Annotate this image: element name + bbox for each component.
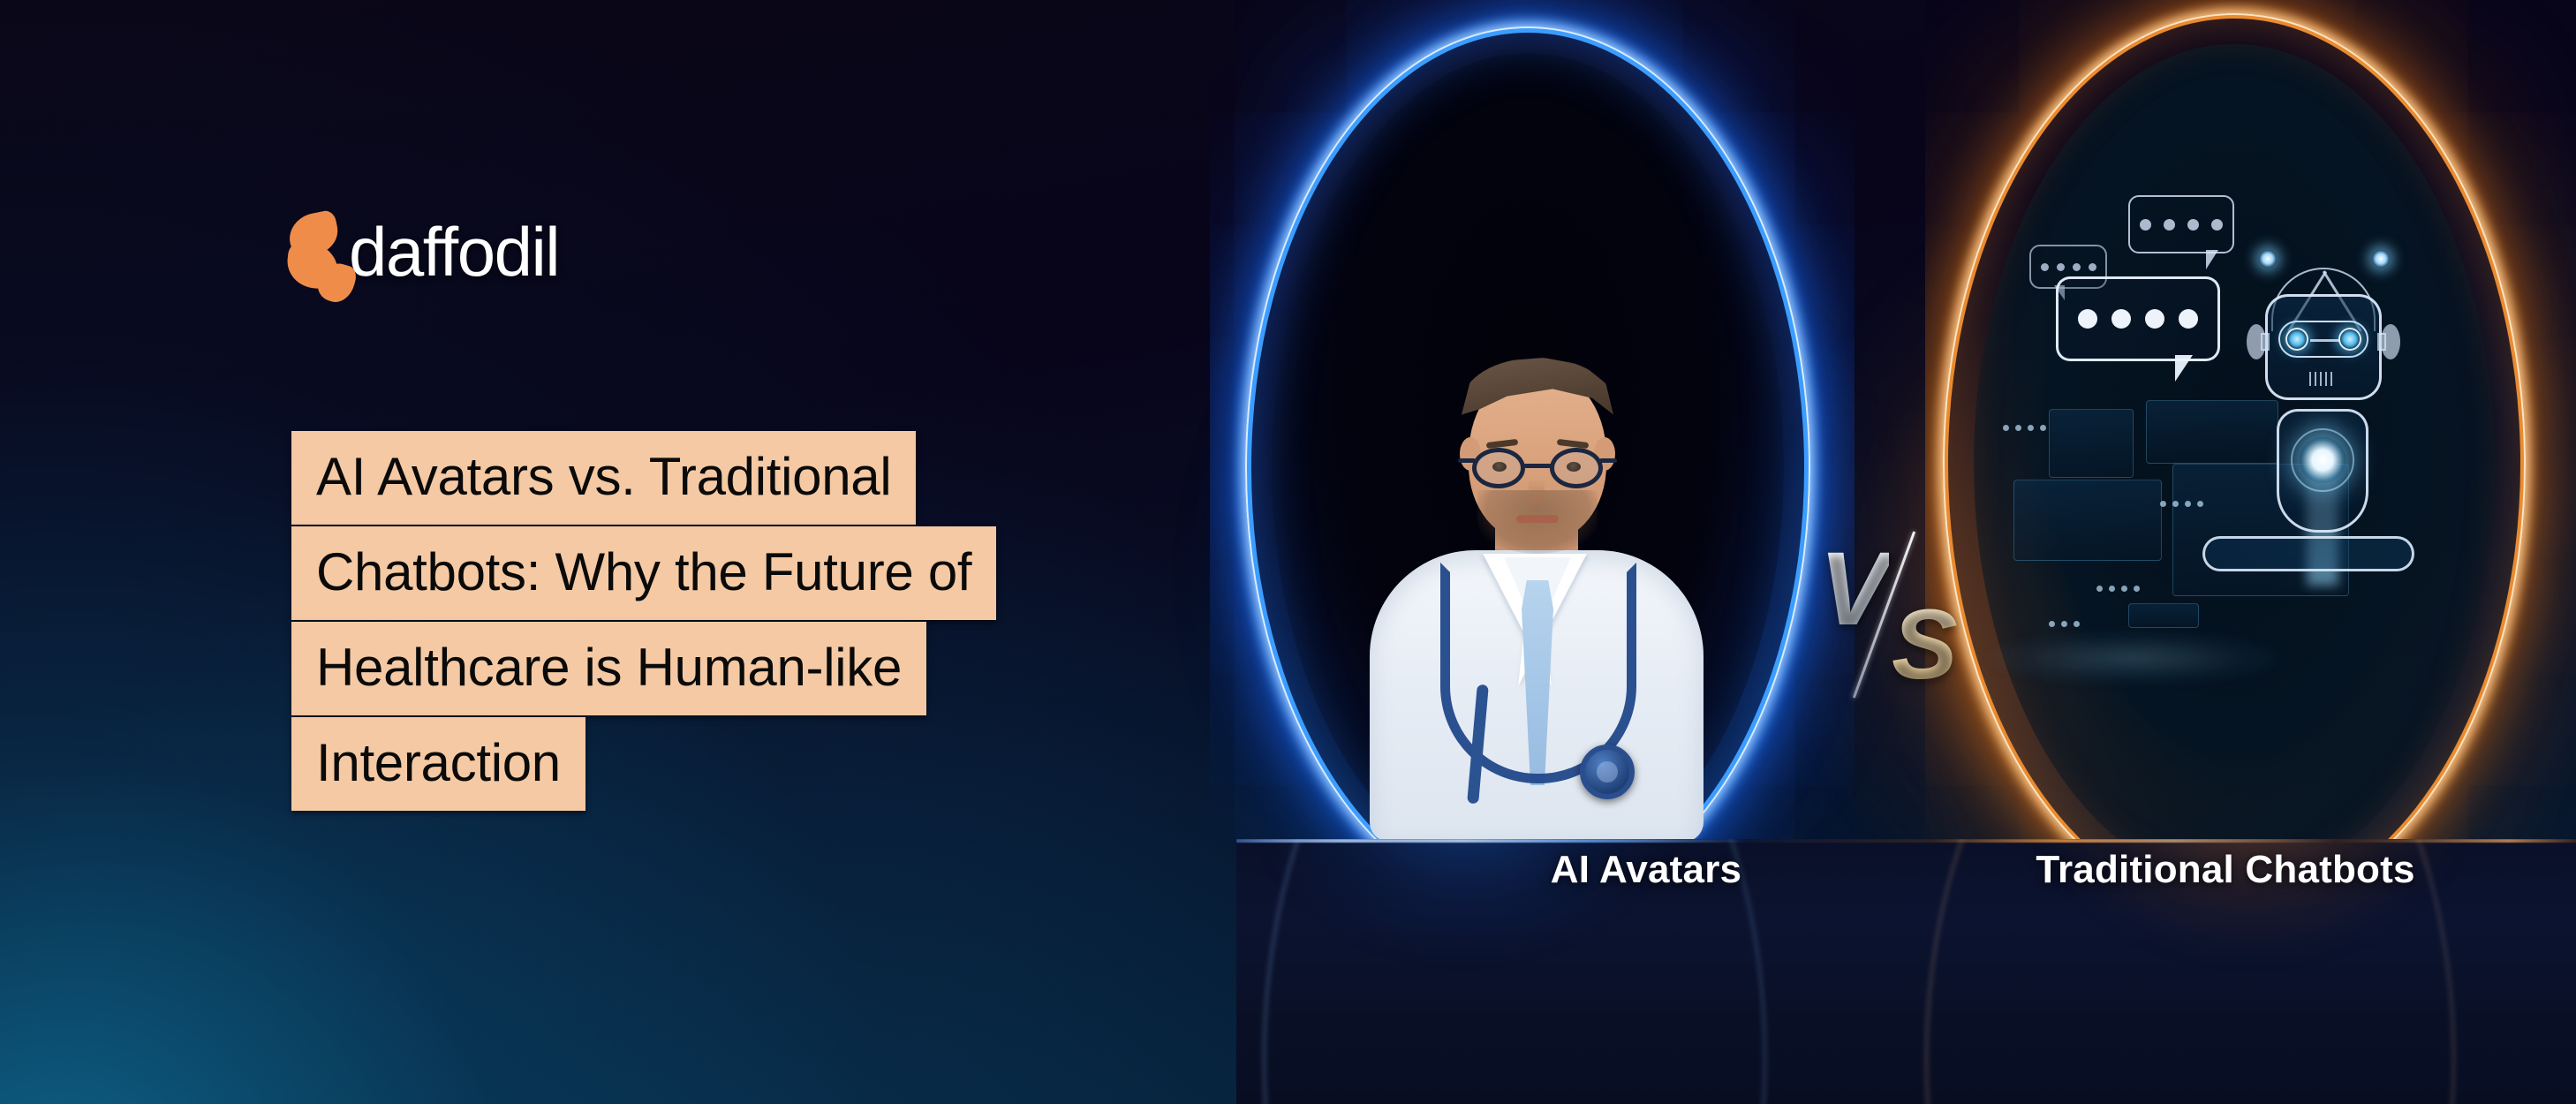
chat-bubble-icon — [2056, 276, 2220, 361]
doctor-mouth — [1516, 515, 1559, 523]
page-title: AI Avatars vs. Traditional Chatbots: Why… — [291, 431, 996, 811]
stethoscope-bell — [1580, 745, 1635, 799]
versus-separator: V S — [1819, 537, 1978, 705]
hud-dots — [2049, 621, 2080, 627]
chatbot-panel — [1925, 0, 2576, 839]
hud-panel — [2146, 400, 2278, 464]
headline-line: Healthcare is Human-like — [291, 622, 926, 715]
brand-logo[interactable]: daffodil — [287, 203, 559, 300]
eyeglass-arm-left — [1458, 458, 1476, 463]
ai-doctor-avatar — [1391, 305, 1682, 839]
chatbot-hud-scene — [1996, 172, 2473, 737]
robot-visor — [2278, 321, 2368, 358]
caption-ai-avatars: AI Avatars — [1425, 848, 1867, 892]
caption-traditional-chatbots: Traditional Chatbots — [1802, 848, 2576, 892]
robot-antenna-light-right — [2372, 250, 2390, 268]
headline-line: AI Avatars vs. Traditional — [291, 431, 916, 525]
robot-core-light — [2300, 437, 2346, 483]
eyeglass-bridge — [1523, 464, 1552, 468]
robot-antenna-light-left — [2259, 250, 2277, 268]
hud-dots — [2096, 586, 2140, 592]
robot-eye-right — [2338, 328, 2361, 351]
hud-dots — [2003, 425, 2046, 431]
headline-line: Interaction — [291, 717, 585, 811]
hud-dots — [2160, 501, 2203, 507]
ai-avatar-panel — [1210, 0, 1855, 839]
banner-stage: V S AI Avatars Traditional Chatbots daff… — [0, 0, 2576, 1104]
brand-logo-text: daffodil — [349, 217, 559, 286]
robot-mouth-grille — [2309, 372, 2336, 386]
robot-base-bar — [2202, 536, 2414, 571]
hud-base-plate — [1987, 631, 2278, 684]
eyeglass-lens-left — [1472, 448, 1525, 488]
hud-panel — [2013, 480, 2162, 561]
hud-panel — [2049, 409, 2134, 478]
chat-bubble-icon — [2128, 195, 2234, 253]
versus-s-glyph: S — [1892, 595, 1958, 694]
robot-ear-bracket-left — [2261, 333, 2270, 351]
doctor-nose — [1529, 478, 1545, 504]
robot-eye-left — [2285, 328, 2308, 351]
robot-ear-bracket-right — [2377, 333, 2386, 351]
eyeglass-arm-right — [1599, 458, 1617, 463]
daffodil-petal-icon — [287, 208, 352, 295]
robot-visor-bar — [2310, 339, 2340, 342]
eyeglass-lens-right — [1550, 448, 1603, 488]
headline-line: Chatbots: Why the Future of — [291, 526, 996, 620]
hud-panel — [2128, 603, 2199, 628]
